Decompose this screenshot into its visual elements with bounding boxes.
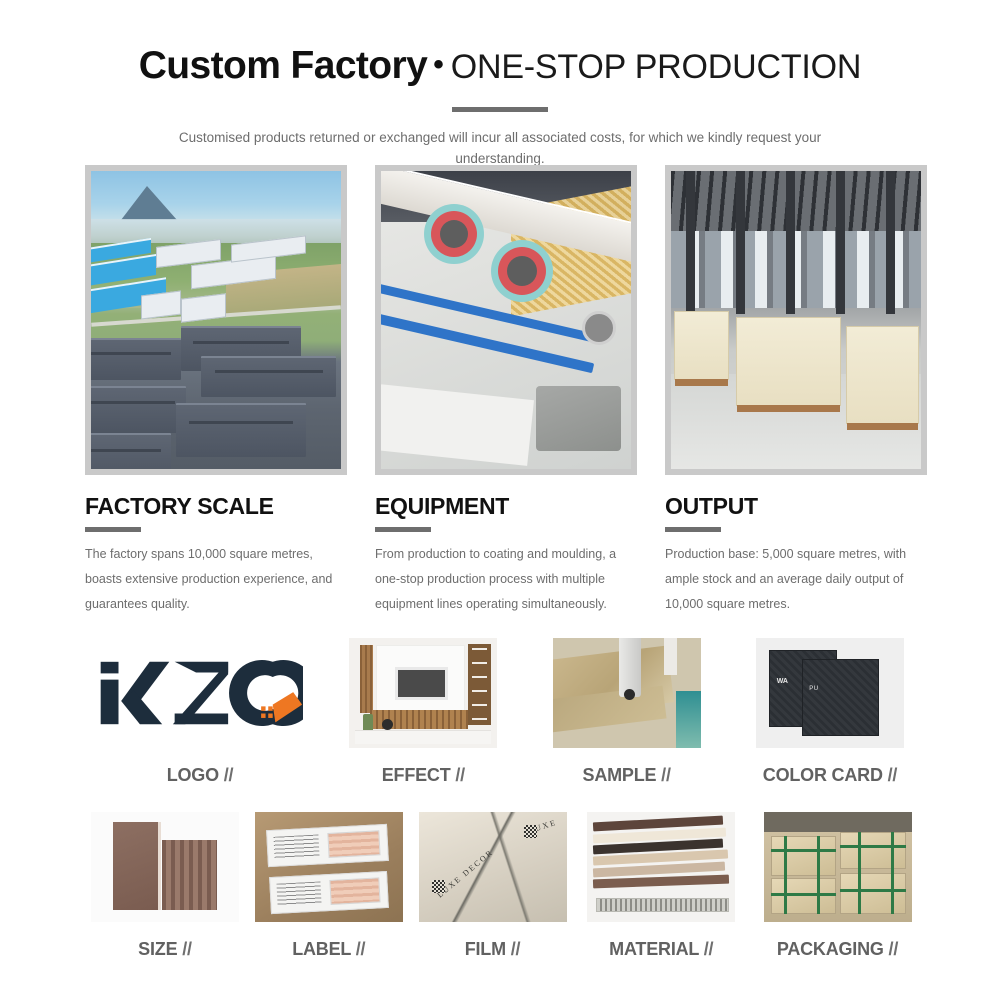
slash-icon: // — [455, 765, 465, 785]
tv-wall-interior-photo — [349, 638, 497, 748]
detail-item-label: FILM // — [465, 939, 521, 960]
detail-item-label-thumb[interactable]: LABEL // — [249, 812, 409, 960]
feature-title: FACTORY SCALE — [85, 493, 347, 520]
feature-body: Production base: 5,000 square metres, wi… — [665, 542, 927, 617]
detail-row-two: SIZE // LABEL // LUXE DECOR LUXE FILM / — [85, 812, 925, 960]
detail-label-text: FILM — [465, 939, 506, 959]
feature-card-factory-scale: FACTORY SCALE The factory spans 10,000 s… — [85, 165, 347, 617]
detail-item-label: LOGO // — [167, 765, 234, 786]
kzq-logo-icon — [98, 654, 303, 732]
detail-item-effect[interactable]: EFFECT // — [328, 638, 518, 786]
panel-size-board-photo — [91, 812, 239, 922]
detail-label-text: EFFECT — [382, 765, 451, 785]
page-title-bold: Custom Factory — [139, 44, 427, 88]
feature-card-equipment: EQUIPMENT From production to coating and… — [375, 165, 637, 617]
page-title: Custom Factory • ONE-STOP PRODUCTION — [0, 44, 1000, 88]
page-root: Custom Factory • ONE-STOP PRODUCTION Cus… — [0, 0, 1000, 1000]
feature-card-output: OUTPUT Production base: 5,000 square met… — [665, 165, 927, 617]
feature-body: The factory spans 10,000 square metres, … — [85, 542, 347, 617]
aerial-factory-park-photo — [91, 171, 341, 469]
photo-frame — [85, 165, 347, 475]
detail-item-label: COLOR CARD // — [763, 765, 897, 786]
page-header: Custom Factory • ONE-STOP PRODUCTION Cus… — [0, 0, 1000, 170]
feature-title: EQUIPMENT — [375, 493, 637, 520]
feature-title: OUTPUT — [665, 493, 927, 520]
photo-frame — [375, 165, 637, 475]
detail-item-label: MATERIAL // — [609, 939, 713, 960]
slash-icon: // — [661, 765, 671, 785]
detail-label-text: MATERIAL — [609, 939, 699, 959]
slash-icon: // — [704, 939, 714, 959]
feature-caption: OUTPUT Production base: 5,000 square met… — [665, 493, 927, 617]
detail-item-material[interactable]: MATERIAL // — [576, 812, 746, 960]
slash-icon: // — [889, 939, 899, 959]
detail-label-text: PACKAGING — [777, 939, 884, 959]
caption-divider — [665, 527, 721, 532]
detail-label-text: COLOR CARD — [763, 765, 883, 785]
caption-divider — [375, 527, 431, 532]
slash-icon: // — [224, 765, 234, 785]
detail-item-sample[interactable]: SAMPLE // — [532, 638, 722, 786]
photo-frame — [665, 165, 927, 475]
slash-icon: // — [182, 939, 192, 959]
carton-label-sticker-photo — [255, 812, 403, 922]
detail-item-size[interactable]: SIZE // — [85, 812, 245, 960]
strapped-pallets-packaging-photo — [764, 812, 912, 922]
feature-body: From production to coating and moulding,… — [375, 542, 637, 617]
feature-caption: EQUIPMENT From production to coating and… — [375, 493, 637, 617]
feature-grid: FACTORY SCALE The factory spans 10,000 s… — [85, 165, 925, 617]
detail-item-film[interactable]: LUXE DECOR LUXE FILM // — [413, 812, 573, 960]
title-bullet-icon: • — [427, 48, 451, 82]
kzq-logo-mark — [85, 638, 315, 748]
page-subtitle: Customised products returned or exchange… — [150, 128, 850, 170]
detail-label-text: SAMPLE — [583, 765, 657, 785]
page-title-light: ONE-STOP PRODUCTION — [451, 48, 862, 87]
detail-item-packaging[interactable]: PACKAGING // — [750, 812, 925, 960]
detail-label-text: SIZE — [138, 939, 177, 959]
detail-item-label: SAMPLE // — [583, 765, 671, 786]
detail-item-label: EFFECT // — [382, 765, 465, 786]
detail-row-one: LOGO // EFFECT // SAMPLE // — [85, 638, 925, 786]
slash-icon: // — [356, 939, 366, 959]
detail-label-text: LOGO — [167, 765, 219, 785]
marble-decor-film-photo: LUXE DECOR LUXE — [419, 812, 567, 922]
detail-item-label: PACKAGING // — [777, 939, 898, 960]
detail-item-color-card[interactable]: WAPU COLOR CARD // — [735, 638, 925, 786]
caption-divider — [85, 527, 141, 532]
slash-icon: // — [511, 939, 521, 959]
cnc-cutting-sample-photo — [553, 638, 701, 748]
production-line-equipment-photo — [381, 171, 631, 469]
slash-icon: // — [888, 765, 898, 785]
feature-caption: FACTORY SCALE The factory spans 10,000 s… — [85, 493, 347, 617]
black-color-card-catalog-photo: WAPU — [756, 638, 904, 748]
title-divider — [452, 107, 548, 112]
detail-label-text: LABEL — [292, 939, 351, 959]
layered-material-stack-photo — [587, 812, 735, 922]
detail-item-logo[interactable]: LOGO // — [85, 638, 315, 786]
detail-item-label: LABEL // — [292, 939, 365, 960]
detail-item-label: SIZE // — [138, 939, 192, 960]
warehouse-stacked-panels-photo — [671, 171, 921, 469]
